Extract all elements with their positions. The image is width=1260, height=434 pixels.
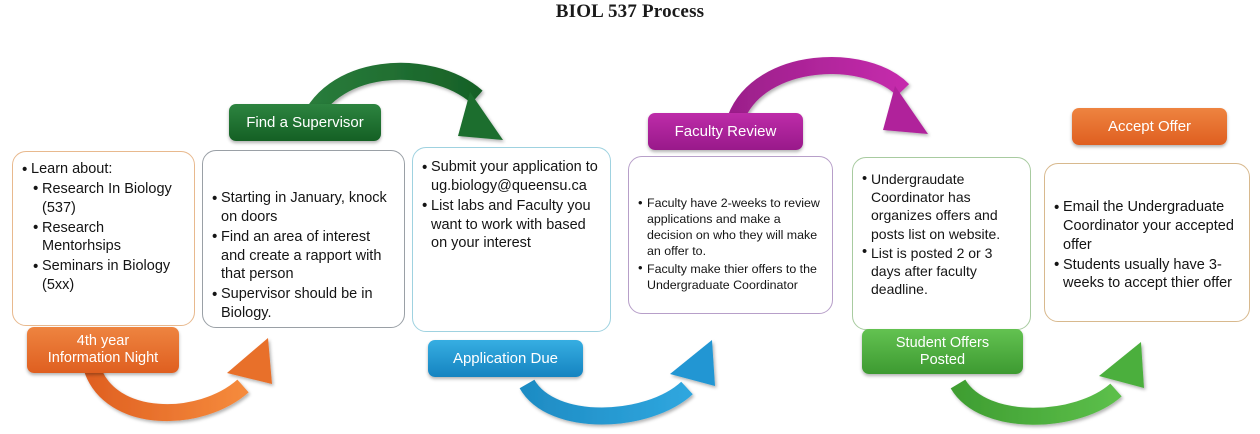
list-item: Students usually have 3-weeks to accept … xyxy=(1054,256,1240,294)
label-accept-offer[interactable]: Accept Offer xyxy=(1072,108,1227,145)
list-item: Find an area of interest and create a ra… xyxy=(212,228,395,285)
box-faculty-review-list: Faculty have 2-weeks to review applicati… xyxy=(638,195,823,293)
list-item: Seminars in Biology (5xx) xyxy=(22,257,185,295)
box-application: Submit your application to ug.biology@qu… xyxy=(412,147,611,332)
box-offers-posted: Undergraudate Coordinator has organizes … xyxy=(852,157,1031,330)
list-item: List labs and Faculty you want to work w… xyxy=(422,197,601,254)
box-faculty-review: Faculty have 2-weeks to review applicati… xyxy=(628,156,833,314)
list-item: Research In Biology (537) xyxy=(22,180,185,218)
label-find-a-supervisor[interactable]: Find a Supervisor xyxy=(229,104,381,141)
box-find-supervisor-list: Starting in January, knock on doors Find… xyxy=(212,189,395,323)
list-item: Faculty make thier offers to the Undergr… xyxy=(638,261,823,293)
label-information-night[interactable]: 4th year Information Night xyxy=(27,327,179,373)
list-item: Learn about: xyxy=(22,160,185,179)
list-item: Undergraudate Coordinator has organizes … xyxy=(862,170,1021,243)
box-learn-about-list: Learn about: Research In Biology (537) R… xyxy=(22,160,185,295)
box-accept-offer: Email the Undergraduate Coordinator your… xyxy=(1044,163,1250,322)
list-item: Email the Undergraduate Coordinator your… xyxy=(1054,198,1240,255)
box-find-supervisor: Starting in January, knock on doors Find… xyxy=(202,150,405,328)
label-faculty-review[interactable]: Faculty Review xyxy=(648,113,803,150)
label-student-offers-posted[interactable]: Student Offers Posted xyxy=(862,329,1023,374)
box-offers-posted-list: Undergraudate Coordinator has organizes … xyxy=(862,170,1021,298)
list-item: List is posted 2 or 3 days after faculty… xyxy=(862,244,1021,299)
box-accept-offer-list: Email the Undergraduate Coordinator your… xyxy=(1054,198,1240,293)
list-item: Starting in January, knock on doors xyxy=(212,189,395,227)
list-item: Submit your application to ug.biology@qu… xyxy=(422,158,601,196)
list-item: Faculty have 2-weeks to review applicati… xyxy=(638,195,823,260)
box-application-list: Submit your application to ug.biology@qu… xyxy=(422,158,601,253)
diagram-canvas: BIOL 537 Process xyxy=(0,0,1260,434)
list-item: Research Mentorhsips xyxy=(22,219,185,257)
list-item: Supervisor should be in Biology. xyxy=(212,285,395,323)
label-application-due[interactable]: Application Due xyxy=(428,340,583,377)
page-title: BIOL 537 Process xyxy=(0,1,1260,23)
box-learn-about: Learn about: Research In Biology (537) R… xyxy=(12,151,195,326)
